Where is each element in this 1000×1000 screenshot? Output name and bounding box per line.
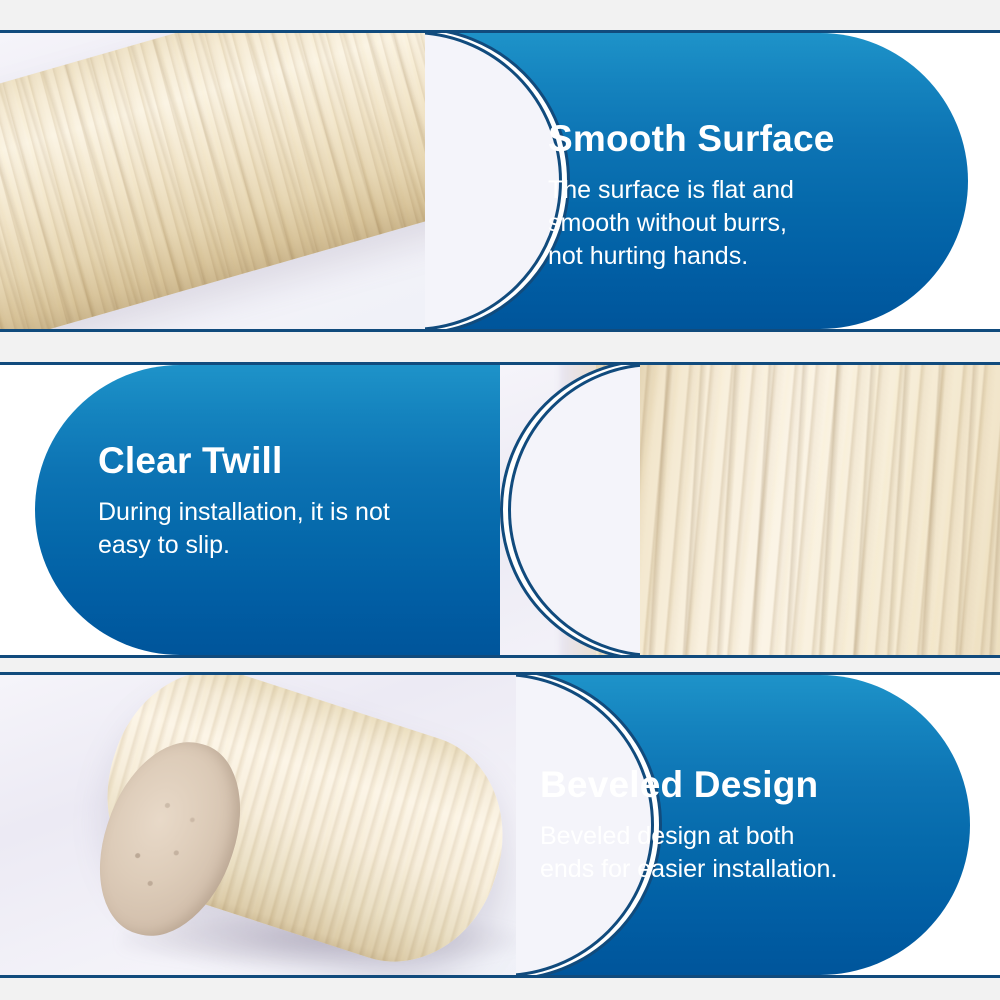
- feature-body: Beveled design at both ends for easier i…: [540, 820, 837, 886]
- feature-heading: Smooth Surface: [548, 119, 835, 160]
- feature-heading: Beveled Design: [540, 765, 837, 806]
- feature-body: During installation, it is not easy to s…: [98, 496, 390, 562]
- wood-grain-texture-overlay: [640, 365, 1000, 655]
- product-photo-beveled-end-overlay: [0, 675, 516, 975]
- feature-copy: Smooth Surface The surface is flat and s…: [548, 119, 835, 273]
- feature-copy: Clear Twill During installation, it is n…: [98, 441, 390, 562]
- feature-heading: Clear Twill: [98, 441, 390, 482]
- feature-band-clear-twill: Clear Twill During installation, it is n…: [0, 362, 1000, 658]
- product-feature-infographic: Smooth Surface The surface is flat and s…: [0, 0, 1000, 1000]
- feature-body: The surface is flat and smooth without b…: [548, 174, 835, 273]
- feature-band-smooth-surface: Smooth Surface The surface is flat and s…: [0, 30, 1000, 332]
- product-photo-dowel-rod-overlay: [0, 33, 425, 329]
- feature-band-beveled-design: Beveled Design Beveled design at both en…: [0, 672, 1000, 978]
- product-photo-wood-grain-overlay: [640, 365, 1000, 655]
- feature-copy: Beveled Design Beveled design at both en…: [540, 765, 837, 886]
